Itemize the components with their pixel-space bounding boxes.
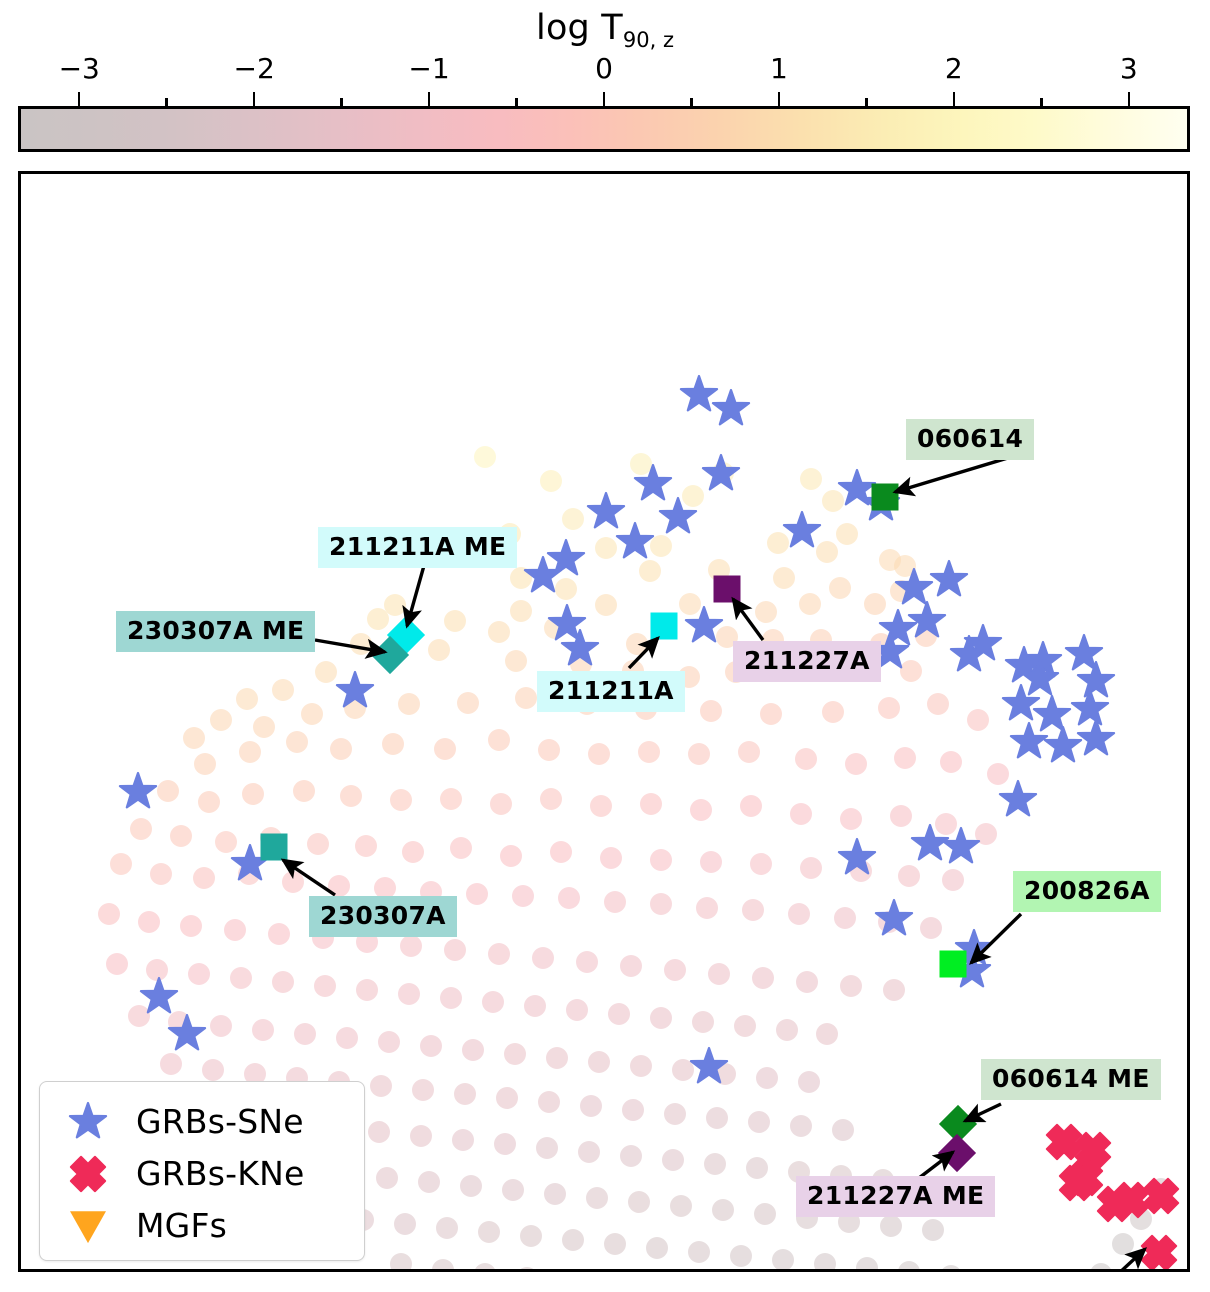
background-dot xyxy=(734,1015,756,1037)
background-dot xyxy=(496,1087,518,1109)
background-dot xyxy=(588,743,610,765)
background-dot xyxy=(350,633,372,655)
background-dot xyxy=(982,1269,1004,1272)
background-dot xyxy=(505,650,527,672)
background-dot xyxy=(706,1107,728,1129)
background-dot xyxy=(293,780,315,802)
background-dot xyxy=(520,1225,542,1247)
background-dot xyxy=(544,1183,566,1205)
background-dot xyxy=(328,875,350,897)
background-dot xyxy=(450,837,472,859)
colorbar-title-subscript: 90, z xyxy=(623,28,674,52)
background-dot xyxy=(776,1019,798,1041)
background-dot xyxy=(390,1253,412,1272)
background-dot xyxy=(307,833,329,855)
background-dot xyxy=(188,963,210,985)
background-dot xyxy=(150,863,172,885)
background-dot xyxy=(708,963,730,985)
background-dot xyxy=(692,1011,714,1033)
background-dot xyxy=(754,1203,776,1225)
background-dot xyxy=(546,1047,568,1069)
colorbar-tick-label-5: 2 xyxy=(945,52,963,85)
background-dot xyxy=(183,727,205,749)
background-dot xyxy=(898,865,920,887)
background-dot xyxy=(800,468,822,490)
legend-box: GRBs-SNeGRBs-KNeMGFs xyxy=(39,1081,365,1261)
figure-root: log T90, z −3−2−10123 060614211211A ME23… xyxy=(0,0,1210,1292)
background-dot xyxy=(432,1259,454,1272)
background-dot xyxy=(230,967,252,989)
marker-grbs-sne xyxy=(838,839,876,877)
background-dot xyxy=(1090,1263,1112,1272)
background-dot xyxy=(730,1245,752,1267)
background-dot xyxy=(586,1187,608,1209)
background-dot xyxy=(752,967,774,989)
background-dot xyxy=(840,808,862,830)
marker-grbs-sne xyxy=(561,630,599,668)
colorbar: log T90, z −3−2−10123 xyxy=(0,0,1210,160)
background-dot xyxy=(670,1195,692,1217)
background-dot xyxy=(550,841,572,863)
background-dot xyxy=(524,995,546,1017)
colorbar-tick-minor xyxy=(340,98,343,106)
colorbar-tick-minor xyxy=(165,98,168,106)
marker-grbs-sne xyxy=(1010,723,1048,761)
marker-grbs-sne xyxy=(908,602,946,640)
background-dot xyxy=(883,979,905,1001)
colorbar-tick-label-6: 3 xyxy=(1120,52,1138,85)
marker-grbs-sne xyxy=(685,607,723,645)
background-dot xyxy=(558,1271,580,1272)
colorbar-tick-major-3 xyxy=(603,92,606,106)
background-dot xyxy=(595,537,617,559)
annotation-211227a: 211227A xyxy=(733,641,881,682)
background-dot xyxy=(170,825,192,847)
background-dot xyxy=(272,679,294,701)
background-dot xyxy=(490,793,512,815)
background-dot xyxy=(796,971,818,993)
background-dot xyxy=(110,853,132,875)
background-dot xyxy=(210,1015,232,1037)
background-dot xyxy=(460,1175,482,1197)
marker-grbs-sne xyxy=(616,523,654,561)
background-dot xyxy=(538,1091,560,1113)
background-dot xyxy=(664,1103,686,1125)
background-dot xyxy=(746,1157,768,1179)
background-dot xyxy=(378,1031,400,1053)
background-dot xyxy=(773,567,795,589)
legend-item-grbs-kne[interactable]: GRBs-KNe xyxy=(40,1148,366,1200)
background-dot xyxy=(474,446,496,468)
background-dot xyxy=(242,783,264,805)
background-dot xyxy=(355,835,377,857)
background-dot xyxy=(488,621,510,643)
marker-grbs-sne xyxy=(1021,660,1059,698)
colorbar-tick-minor xyxy=(515,98,518,106)
background-dot xyxy=(650,893,672,915)
colorbar-tick-major-0 xyxy=(78,92,81,106)
background-dot xyxy=(336,1027,358,1049)
background-dot xyxy=(814,1253,836,1272)
annotation-230307a-me: 230307A ME xyxy=(116,611,315,652)
background-dot xyxy=(330,738,352,760)
background-dot xyxy=(488,943,510,965)
background-dot xyxy=(440,788,462,810)
background-dot xyxy=(138,911,160,933)
background-dot xyxy=(856,1257,878,1272)
marker-grbs-sne xyxy=(783,512,821,550)
background-dot xyxy=(440,987,462,1009)
marker-grbs-sne xyxy=(168,1015,206,1053)
background-dot xyxy=(600,847,622,869)
background-dot xyxy=(160,1053,182,1075)
background-dot xyxy=(268,923,290,945)
marker-grbs-sne xyxy=(140,978,178,1016)
background-dot xyxy=(576,951,598,973)
background-dot xyxy=(795,748,817,770)
star-icon xyxy=(40,1100,136,1144)
background-dot xyxy=(454,1083,476,1105)
colorbar-tick-minor xyxy=(1040,98,1043,106)
background-dot xyxy=(193,867,215,889)
background-dot xyxy=(790,1115,812,1137)
colorbar-tick-major-5 xyxy=(953,92,956,106)
background-dot xyxy=(410,1125,432,1147)
highlight-diamond-211227a-me xyxy=(938,1134,976,1172)
background-dot xyxy=(756,1067,778,1089)
background-dot xyxy=(434,738,456,760)
marker-grbs-kne xyxy=(1060,1166,1094,1200)
background-dot xyxy=(394,1213,416,1235)
background-dot xyxy=(286,731,308,753)
cross-icon xyxy=(40,1152,136,1196)
background-dot xyxy=(967,709,989,731)
annotation-200826a: 200826A xyxy=(1013,871,1161,912)
background-dot xyxy=(466,883,488,905)
background-dot xyxy=(474,1263,496,1272)
background-dot xyxy=(516,1267,538,1272)
background-dot xyxy=(688,1241,710,1263)
background-dot xyxy=(832,1119,854,1141)
marker-grbs-sne xyxy=(1077,720,1115,758)
background-dot xyxy=(180,915,202,937)
background-dot xyxy=(384,594,406,616)
background-dot xyxy=(940,751,962,773)
background-dot xyxy=(504,1043,526,1065)
background-dot xyxy=(224,919,246,941)
background-dot xyxy=(920,917,942,939)
background-dot xyxy=(760,703,782,725)
background-dot xyxy=(1112,1233,1134,1255)
background-dot xyxy=(282,871,304,893)
background-dot xyxy=(840,975,862,997)
background-dot xyxy=(604,1233,626,1255)
marker-grbs-kne xyxy=(1144,1179,1178,1213)
background-dot xyxy=(515,687,537,709)
background-dot xyxy=(428,639,450,661)
background-dot xyxy=(942,869,964,891)
background-dot xyxy=(198,791,220,813)
background-dot xyxy=(457,692,479,714)
background-dot xyxy=(622,1099,644,1121)
annotation-211211a-me: 211211A ME xyxy=(318,527,517,568)
background-dot xyxy=(646,1237,668,1259)
marker-grbs-sne xyxy=(875,900,913,938)
background-dot xyxy=(816,1023,838,1045)
background-dot xyxy=(294,1023,316,1045)
background-dot xyxy=(314,975,336,997)
legend-item-grbs-kne-label: GRBs-KNe xyxy=(136,1156,304,1192)
marker-grbs-sne xyxy=(690,1048,728,1086)
background-dot xyxy=(700,851,722,873)
marker-grbs-kne xyxy=(1098,1187,1132,1221)
background-dot xyxy=(253,716,275,738)
background-dot xyxy=(494,1133,516,1155)
background-dot xyxy=(712,1199,734,1221)
marker-grbs-sne xyxy=(942,828,980,866)
colorbar-tick-minor xyxy=(690,98,693,106)
background-dot xyxy=(400,935,422,957)
colorbar-tick-label-3: 0 xyxy=(595,52,613,85)
annotation-211211a: 211211A xyxy=(537,671,685,712)
background-dot xyxy=(272,971,294,993)
background-dot xyxy=(536,1137,558,1159)
background-dot xyxy=(538,739,560,761)
colorbar-tick-major-1 xyxy=(253,92,256,106)
background-dot xyxy=(620,1145,642,1167)
colorbar-tick-label-0: −3 xyxy=(59,52,100,85)
background-dot xyxy=(510,600,532,622)
background-dot xyxy=(650,849,672,871)
background-dot xyxy=(836,523,858,545)
background-dot xyxy=(604,891,626,913)
colorbar-gradient xyxy=(18,106,1190,152)
legend-item-grbs-sne-label: GRBs-SNe xyxy=(136,1104,304,1140)
background-dot xyxy=(462,1039,484,1061)
background-dot xyxy=(502,1179,524,1201)
colorbar-tick-major-2 xyxy=(428,92,431,106)
marker-grbs-kne xyxy=(1142,1236,1176,1270)
background-dot xyxy=(566,999,588,1021)
background-dot xyxy=(452,1129,474,1151)
background-dot xyxy=(588,1051,610,1073)
background-dot xyxy=(608,1003,630,1025)
background-dot xyxy=(662,1149,684,1171)
triangle-down-icon xyxy=(40,1204,136,1248)
background-dot xyxy=(800,857,822,879)
marker-grbs-sne xyxy=(930,561,968,599)
legend-item-grbs-sne[interactable]: GRBs-SNe xyxy=(40,1096,366,1148)
background-dot xyxy=(738,741,760,763)
background-dot xyxy=(696,897,718,919)
background-dot xyxy=(878,697,900,719)
marker-grbs-sne xyxy=(712,390,750,428)
background-dot xyxy=(829,577,851,599)
colorbar-title-main: log T xyxy=(536,8,623,48)
legend-item-mgfs[interactable]: MGFs xyxy=(40,1200,366,1252)
background-dot xyxy=(788,903,810,925)
background-dot xyxy=(595,594,617,616)
background-dot xyxy=(402,841,424,863)
background-dot xyxy=(488,729,510,751)
background-dot xyxy=(418,1171,440,1193)
annotation-211227a-me: 211227A ME xyxy=(796,1176,995,1217)
background-dot xyxy=(630,1055,652,1077)
background-dot xyxy=(890,805,912,827)
background-dot xyxy=(638,741,660,763)
background-dot xyxy=(750,853,772,875)
background-dot xyxy=(922,1219,944,1241)
highlight-square-211227a xyxy=(714,576,741,603)
background-dot xyxy=(157,780,179,802)
background-dot xyxy=(540,788,562,810)
annotation-060614: 060614 xyxy=(906,419,1034,460)
highlight-square-230307a xyxy=(261,834,288,861)
annotation-230307a: 230307A xyxy=(309,896,457,937)
marker-grbs-sne xyxy=(524,557,562,595)
marker-grbs-sne xyxy=(119,773,157,811)
background-dot xyxy=(436,1217,458,1239)
background-dot xyxy=(252,1019,274,1041)
background-dot xyxy=(478,1221,500,1243)
background-dot xyxy=(444,610,466,632)
background-dot xyxy=(412,1079,434,1101)
background-dot xyxy=(620,955,642,977)
colorbar-tick-major-6 xyxy=(1128,92,1131,106)
background-dot xyxy=(236,688,258,710)
background-dot xyxy=(845,753,867,775)
background-dot xyxy=(578,1141,600,1163)
background-dot xyxy=(742,899,764,921)
background-dot xyxy=(239,741,261,763)
background-dot xyxy=(626,633,648,655)
background-dot xyxy=(798,1071,820,1093)
colorbar-tick-label-4: 1 xyxy=(770,52,788,85)
background-dot xyxy=(500,845,522,867)
background-dot xyxy=(482,991,504,1013)
marker-grbs-sne xyxy=(702,455,740,493)
background-dot xyxy=(356,979,378,1001)
background-dot xyxy=(106,953,128,975)
background-dot xyxy=(340,785,362,807)
background-dot xyxy=(640,793,662,815)
background-dot xyxy=(562,1229,584,1251)
colorbar-tick-label-2: −1 xyxy=(408,52,449,85)
background-dot xyxy=(748,1111,770,1133)
colorbar-tick-label-1: −2 xyxy=(234,52,275,85)
background-dot xyxy=(580,1095,602,1117)
background-dot xyxy=(700,700,722,722)
background-dot xyxy=(822,701,844,723)
colorbar-tick-major-4 xyxy=(778,92,781,106)
background-dot xyxy=(532,947,554,969)
colorbar-tick-minor xyxy=(865,98,868,106)
background-dot xyxy=(382,733,404,755)
background-dot xyxy=(376,1167,398,1189)
background-dot xyxy=(562,508,584,530)
background-dot xyxy=(639,560,661,582)
background-dot xyxy=(664,959,686,981)
background-dot xyxy=(202,1059,224,1081)
background-dot xyxy=(370,1075,392,1097)
background-dot xyxy=(704,1153,726,1175)
marker-grbs-sne xyxy=(336,672,374,710)
background-dot xyxy=(690,799,712,821)
marker-grbs-sne xyxy=(964,625,1002,663)
marker-mgf xyxy=(1128,1267,1168,1272)
background-dot xyxy=(368,1121,390,1143)
background-dot xyxy=(834,907,856,929)
background-dot xyxy=(420,1035,442,1057)
marker-grbs-sne xyxy=(999,781,1037,819)
background-dot xyxy=(740,795,762,817)
legend-item-mgfs-label: MGFs xyxy=(136,1208,227,1244)
background-dot xyxy=(98,903,120,925)
background-dot xyxy=(880,1215,902,1237)
background-dot xyxy=(799,593,821,615)
background-dot xyxy=(772,1249,794,1271)
background-dot xyxy=(688,743,710,765)
highlight-square-060614 xyxy=(872,484,899,511)
background-dot xyxy=(398,693,420,715)
background-dot xyxy=(650,1007,672,1029)
background-dot xyxy=(301,703,323,725)
colorbar-ticks xyxy=(0,92,1210,106)
background-dot xyxy=(130,818,152,840)
annotation-060614-me: 060614 ME xyxy=(981,1059,1161,1100)
background-dot xyxy=(315,661,337,683)
background-dot xyxy=(194,753,216,775)
background-dot xyxy=(790,803,812,825)
marker-grbs-sne xyxy=(659,498,697,536)
background-dot xyxy=(210,709,232,731)
background-dot xyxy=(444,939,466,961)
background-dot xyxy=(940,1265,962,1272)
background-dot xyxy=(898,1261,920,1272)
background-dot xyxy=(590,795,612,817)
colorbar-tick-labels: −3−2−10123 xyxy=(0,52,1210,86)
background-dot xyxy=(512,885,534,907)
background-dot xyxy=(390,789,412,811)
highlight-square-211211a xyxy=(651,613,678,640)
background-dot xyxy=(558,887,580,909)
highlight-square-200826a xyxy=(940,951,967,978)
background-dot xyxy=(927,693,949,715)
background-dot xyxy=(755,601,777,623)
background-dot xyxy=(398,983,420,1005)
background-dot xyxy=(894,747,916,769)
plot-area: 060614211211A ME230307A ME211227A211211A… xyxy=(18,171,1190,1272)
background-dot xyxy=(540,470,562,492)
background-dot xyxy=(628,1191,650,1213)
